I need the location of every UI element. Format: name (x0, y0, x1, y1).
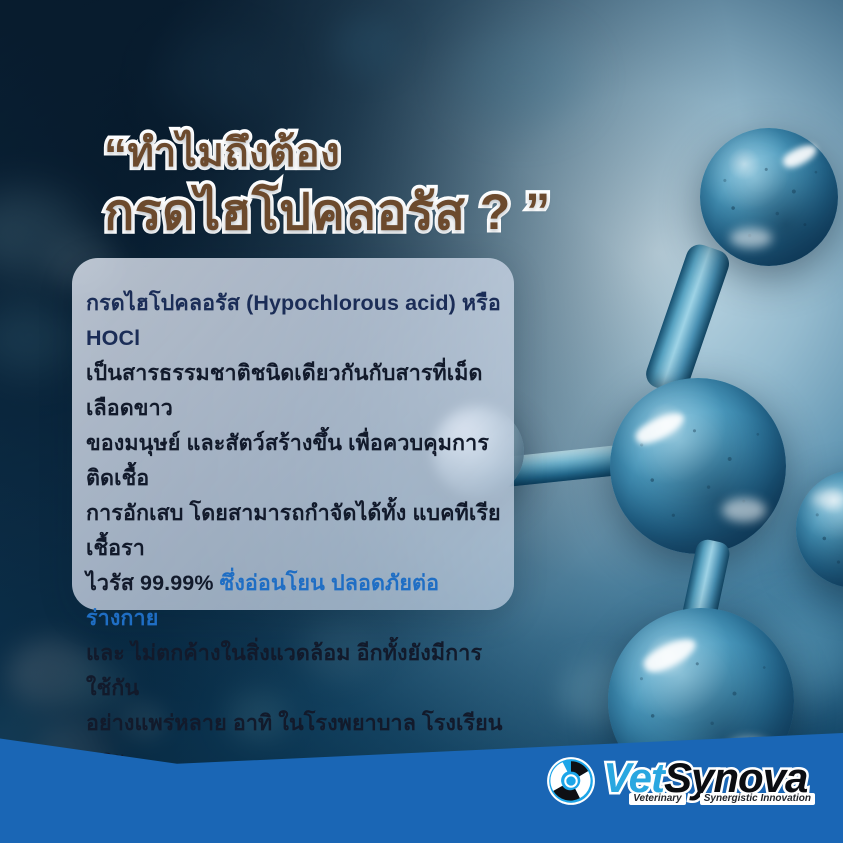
quote-close-mark: ” (525, 183, 551, 239)
page-title: “ทำไมถึงต้อง กรดไฮโปคลอรัส ? ” (104, 132, 624, 239)
body-line-5: ไวรัส 99.99% ซึ่งอ่อนโยน ปลอดภัยต่อร่างก… (86, 566, 506, 636)
heading-line-1-text: ทำไมถึงต้อง (128, 131, 341, 175)
heading-line-1: “ทำไมถึงต้อง (104, 132, 624, 178)
vetsynova-mark-icon (545, 755, 597, 807)
logo-tagline: Veterinary Synergistic Innovation (603, 793, 815, 805)
body-line-5-plain: ไวรัส 99.99% (86, 571, 220, 595)
logo-tagline-second: Synergistic Innovation (700, 793, 815, 805)
heading-line-2-text: กรดไฮโปคลอรัส ? (104, 184, 511, 240)
body-line-1: กรดไฮโปคลอรัส (Hypochlorous acid) หรือ H… (86, 286, 506, 356)
quote-open-mark: “ (104, 129, 128, 181)
heading-line-2: กรดไฮโปคลอรัส ? ” (104, 186, 624, 239)
body-line-6: และ ไม่ตกค้างในสิ่งแวดล้อม อีกทั้งยังมีก… (86, 636, 506, 706)
brand-logo[interactable]: VetSynova Veterinary Synergistic Innovat… (545, 755, 815, 807)
body-line-2: เป็นสารธรรมชาติชนิดเดียวกันกับสารที่เม็ด… (86, 356, 506, 426)
body-line-3: ของมนุษย์ และสัตว์สร้างขึ้น เพื่อควบคุมก… (86, 426, 506, 496)
logo-tagline-first: Veterinary (629, 793, 686, 805)
poster-canvas: “ทำไมถึงต้อง กรดไฮโปคลอรัส ? ” กรดไฮโปคล… (0, 0, 843, 843)
logo-wordmark-group: VetSynova Veterinary Synergistic Innovat… (603, 757, 815, 805)
body-line-4: การอักเสบ โดยสามารถกำจัดได้ทั้ง แบคทีเรี… (86, 496, 506, 566)
